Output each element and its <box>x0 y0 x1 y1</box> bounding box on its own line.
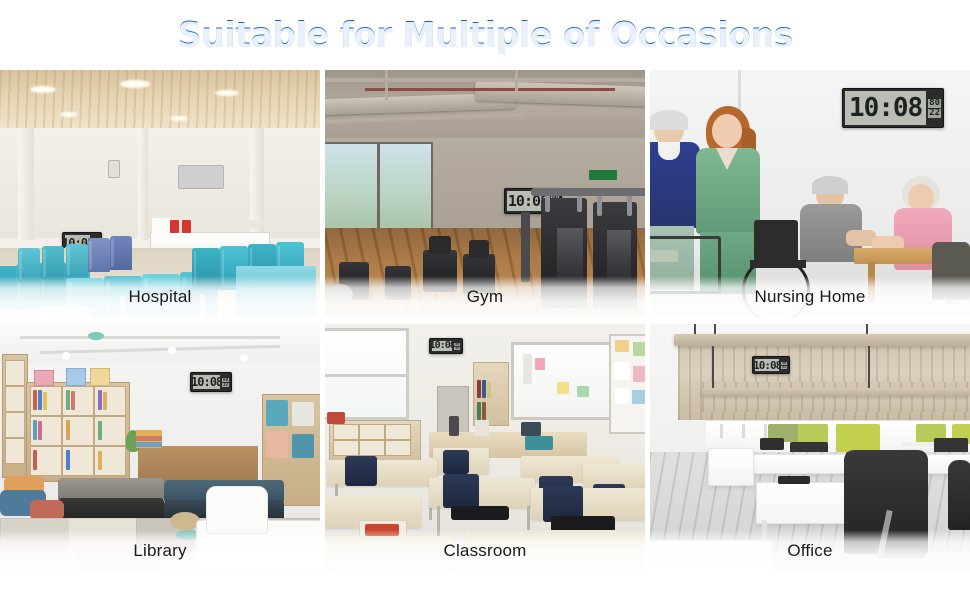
shelf-cell <box>5 438 25 464</box>
weight-stack <box>607 230 631 278</box>
exercise-bike <box>423 250 457 292</box>
book <box>477 402 481 420</box>
weight-stack <box>557 228 583 278</box>
book <box>103 392 107 410</box>
wall-detail <box>764 424 767 438</box>
book <box>33 390 37 410</box>
desk-item <box>170 220 179 233</box>
wood-bench <box>138 446 258 482</box>
desk-divider-green <box>836 424 880 452</box>
classroom-scene: 10:08 80 22 <box>325 324 645 572</box>
clock-humidity: 22 <box>928 109 941 118</box>
shelf-item <box>266 432 288 458</box>
book <box>66 450 70 470</box>
display-book <box>90 368 110 386</box>
sofa-base <box>58 498 164 520</box>
chair-leg <box>200 294 205 318</box>
cubby <box>385 440 411 456</box>
pinned-note <box>633 342 645 356</box>
hair <box>812 176 848 194</box>
exit-sign <box>589 170 617 180</box>
foam-mat <box>68 518 140 554</box>
panel-office[interactable]: 10:08 80 22 <box>650 324 970 572</box>
digital-wall-clock: 10:08 80 22 <box>429 338 463 354</box>
walker-pad <box>650 250 678 262</box>
foam-mat <box>0 550 82 572</box>
panel-library[interactable]: 10:08 80 22 <box>0 324 320 572</box>
ceiling-accent <box>88 332 104 340</box>
ceiling-hanger <box>385 70 388 100</box>
waiting-chair <box>88 238 110 272</box>
wall-monitor <box>178 165 224 189</box>
student-desk <box>327 460 437 486</box>
office-desk-front <box>650 540 772 572</box>
cubby <box>359 440 385 456</box>
counter-item <box>521 422 541 436</box>
desk-divider-green <box>798 424 828 444</box>
clock-temperature: 80 <box>928 99 941 108</box>
machine-post <box>521 212 530 282</box>
shelf-beam <box>702 388 970 396</box>
display-book <box>66 368 86 386</box>
pinned-note <box>632 390 645 404</box>
whiteboard-note <box>535 358 545 370</box>
clock-time: 10:08 <box>849 95 922 121</box>
library-ceiling <box>0 324 320 364</box>
book <box>98 390 102 410</box>
waiting-chair-row <box>236 266 316 318</box>
clock-temperature: 80 <box>222 378 229 382</box>
table-leg <box>868 262 875 304</box>
book <box>38 390 42 410</box>
ceiling-spotlight <box>240 354 248 362</box>
exercise-bike <box>385 266 411 300</box>
classroom-window <box>325 328 409 420</box>
bike-console <box>429 236 451 254</box>
pendant-light-beam <box>674 334 970 346</box>
book <box>43 392 47 410</box>
gym-scene: 10:08 80 22 <box>325 70 645 318</box>
clock-sensor-readings: 80 22 <box>220 375 229 389</box>
ceiling-pipe-red <box>365 88 615 91</box>
dining-chair <box>932 242 970 300</box>
page-title: Suitable for Multiple of Occasions <box>177 15 792 56</box>
desk-item <box>182 220 191 233</box>
waiting-chair <box>110 236 132 270</box>
book <box>487 382 491 398</box>
clock-humidity: 22 <box>454 347 460 350</box>
waiting-chair <box>192 248 220 290</box>
book <box>71 391 75 410</box>
bike-console <box>469 240 489 258</box>
panel-nursing-home[interactable]: 10:08 80 22 <box>650 70 970 318</box>
occasion-grid: 10:08 80 22 <box>0 70 970 590</box>
collar <box>658 142 680 160</box>
ceiling-light <box>215 90 239 96</box>
whiteboard-note <box>557 382 569 394</box>
book <box>38 421 42 440</box>
book <box>66 420 70 440</box>
pinned-note <box>633 366 645 382</box>
book <box>477 380 481 398</box>
wall-sign <box>108 160 120 178</box>
waiting-chair <box>18 248 40 282</box>
cubby <box>359 424 385 440</box>
office-desk <box>708 448 754 486</box>
bin <box>327 412 345 424</box>
book <box>98 421 102 440</box>
book <box>482 402 486 420</box>
chair-leg <box>120 296 125 318</box>
armrest <box>36 306 90 318</box>
digital-wall-clock: 10:08 80 22 <box>842 88 944 128</box>
paper-stack <box>902 442 934 446</box>
book <box>66 390 70 410</box>
clock-lcd: 10:08 <box>432 341 452 351</box>
foam-mat <box>78 550 160 572</box>
panel-gym[interactable]: 10:08 80 22 <box>325 70 645 318</box>
counter-bin <box>525 436 553 450</box>
hospital-scene: 10:08 80 22 <box>0 70 320 318</box>
hair <box>650 110 688 130</box>
laptop <box>778 476 810 484</box>
waiting-chair <box>66 244 88 278</box>
clock-sensor-readings: 80 22 <box>779 359 787 371</box>
page-title-banner: Suitable for Multiple of Occasions <box>0 0 970 70</box>
ceiling-light <box>60 112 78 117</box>
counter-item <box>449 416 459 436</box>
walking-frame <box>650 236 721 294</box>
office-scene: 10:08 80 22 <box>650 324 970 572</box>
clock-time: 10:08 <box>193 376 220 388</box>
shelf-cell <box>5 412 25 438</box>
pendant-rod <box>712 346 714 390</box>
white-chair <box>206 486 268 534</box>
display-book <box>34 370 54 386</box>
desk-item <box>152 218 170 234</box>
ceiling-pipe <box>325 78 645 82</box>
student-desk-front <box>465 530 645 572</box>
foam-mat <box>0 518 72 554</box>
student-chair <box>443 450 469 474</box>
panel-hospital[interactable]: 10:08 80 22 <box>0 70 320 318</box>
book <box>98 451 102 470</box>
office-desk <box>736 454 858 474</box>
ceiling-hanger <box>515 70 518 92</box>
student-desk-front <box>325 536 455 572</box>
wall-pillar <box>138 128 148 240</box>
shelf-item <box>266 400 288 426</box>
clock-lcd: 10:08 <box>755 359 779 371</box>
waiting-chair <box>42 246 64 280</box>
machine-top-bar <box>531 188 645 196</box>
clock-sensor-readings: 80 22 <box>926 91 941 125</box>
ceiling-light <box>170 116 188 121</box>
clock-humidity: 22 <box>781 366 787 369</box>
wall-detail <box>720 424 723 438</box>
shelf-cell <box>5 386 25 412</box>
clock-time: 10:08 <box>432 341 452 351</box>
counter-item <box>475 420 489 436</box>
library-scene: 10:08 80 22 <box>0 324 320 572</box>
sofa-back <box>58 478 164 500</box>
whiteboard-note <box>523 354 532 384</box>
pinned-note <box>615 340 629 352</box>
digital-wall-clock: 10:08 80 22 <box>752 356 790 374</box>
clock-time: 10:08 <box>755 360 779 371</box>
student-chair <box>443 474 479 508</box>
cubby <box>333 424 359 440</box>
cubby <box>385 424 411 440</box>
floor-cushion <box>30 500 64 520</box>
wall-detail <box>742 424 745 438</box>
exercise-bike <box>463 254 495 294</box>
folded-blankets <box>136 436 162 441</box>
pinned-note <box>614 362 630 380</box>
ceiling-track <box>20 336 280 339</box>
wheelchair-seat <box>750 260 806 268</box>
chair-seat <box>451 506 509 520</box>
student-chair <box>345 456 377 486</box>
wall-pillar <box>18 128 34 240</box>
office-chair <box>948 460 970 530</box>
wheelchair-back <box>754 220 798 264</box>
shelf-item <box>292 434 314 458</box>
cubby <box>333 440 359 456</box>
ceiling-spotlight <box>168 346 176 354</box>
head <box>712 114 742 148</box>
ceiling-light <box>30 86 56 93</box>
book <box>33 420 37 440</box>
shelf-item <box>292 402 314 426</box>
ceiling-light <box>120 80 150 88</box>
waiting-chair <box>142 274 180 318</box>
clock-lcd: 10:08 <box>193 375 220 389</box>
whiteboard-note <box>577 386 589 397</box>
stability-ball <box>325 284 353 304</box>
book <box>482 380 486 398</box>
pinned-note <box>615 388 629 404</box>
pendant-rod <box>868 346 870 390</box>
panel-classroom[interactable]: 10:08 80 22 <box>325 324 645 572</box>
shelf-cell <box>5 360 25 386</box>
book <box>33 450 37 470</box>
clock-sensor-readings: 80 22 <box>452 341 460 351</box>
clock-lcd: 10:08 <box>845 91 926 125</box>
desk-name-tag-color <box>365 524 399 536</box>
nursing-home-scene: 10:08 80 22 <box>650 70 970 318</box>
digital-wall-clock: 10:08 80 22 <box>190 372 232 392</box>
hospital-wood-ceiling <box>0 70 320 128</box>
wood-panel-wall-lower <box>702 382 970 412</box>
desk-item <box>246 220 264 228</box>
ceiling-spotlight <box>62 352 70 360</box>
desk-tray-dark <box>760 438 784 450</box>
folded-blankets <box>136 442 162 447</box>
clock-humidity: 22 <box>222 383 229 387</box>
